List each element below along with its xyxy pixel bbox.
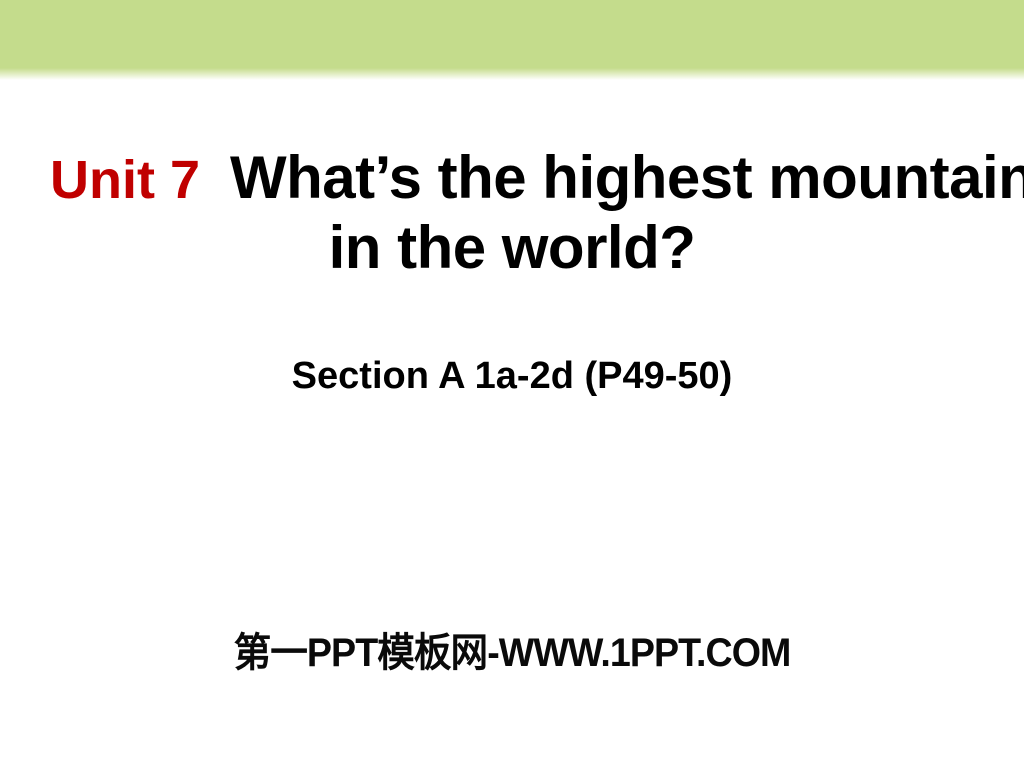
top-band-gradient-fade: [0, 68, 1024, 80]
unit-number-label: Unit 7: [50, 150, 230, 210]
title-line-one: Unit 7 What’s the highest mountain: [0, 144, 1024, 214]
presentation-slide: Unit 7 What’s the highest mountain in th…: [0, 0, 1024, 768]
slide-title-block: Unit 7 What’s the highest mountain in th…: [0, 144, 1024, 282]
source-watermark: 第一PPT模板网-WWW.1PPT.COM: [31, 620, 994, 678]
title-text-primary: What’s the highest mountain: [230, 144, 1024, 211]
slide-subtitle: Section A 1a-2d (P49-50): [0, 355, 1024, 398]
title-line-two: in the world?: [0, 214, 1024, 282]
top-decorative-band: [0, 0, 1024, 77]
